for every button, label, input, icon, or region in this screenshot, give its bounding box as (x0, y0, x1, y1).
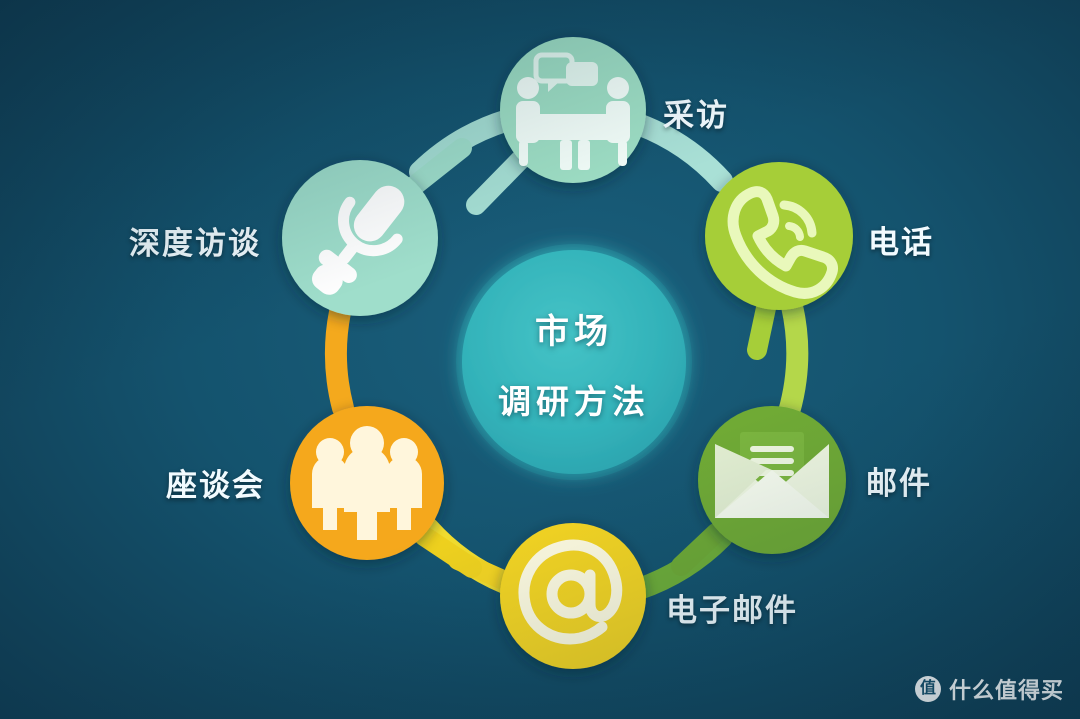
node-interview[interactable] (500, 37, 646, 183)
watermark-logo-icon: 值 (915, 676, 941, 702)
people-group-icon (312, 426, 422, 540)
tail-focusgroup (424, 536, 472, 568)
label-email: 电子邮件 (666, 585, 798, 630)
tail-telephone (757, 308, 766, 350)
node-telephone[interactable] (705, 162, 853, 310)
label-mail: 邮件 (866, 458, 932, 503)
label-focus-group: 座谈会 (166, 460, 265, 505)
infographic-canvas: 市场 调研方法 采访 电话 邮件 电子邮件 座谈会 深度访谈 值 什么值得买 (0, 0, 1080, 719)
watermark-text: 什么值得买 (949, 673, 1064, 705)
node-mail[interactable] (698, 406, 846, 554)
node-focus-group[interactable] (290, 406, 444, 560)
watermark: 值 什么值得买 (915, 673, 1064, 705)
market-research-wheel-diagram (0, 0, 1080, 719)
connector-telephone-to-mail (789, 306, 797, 412)
label-telephone: 电话 (868, 217, 934, 262)
connector-focusgroup-to-indepth (336, 312, 343, 408)
node-in-depth-interview[interactable] (282, 160, 438, 316)
label-in-depth-interview: 深度访谈 (129, 218, 261, 263)
center-hub (456, 244, 692, 480)
node-email[interactable] (500, 523, 646, 669)
tail-interview (476, 160, 520, 205)
label-interview: 采访 (663, 90, 729, 135)
